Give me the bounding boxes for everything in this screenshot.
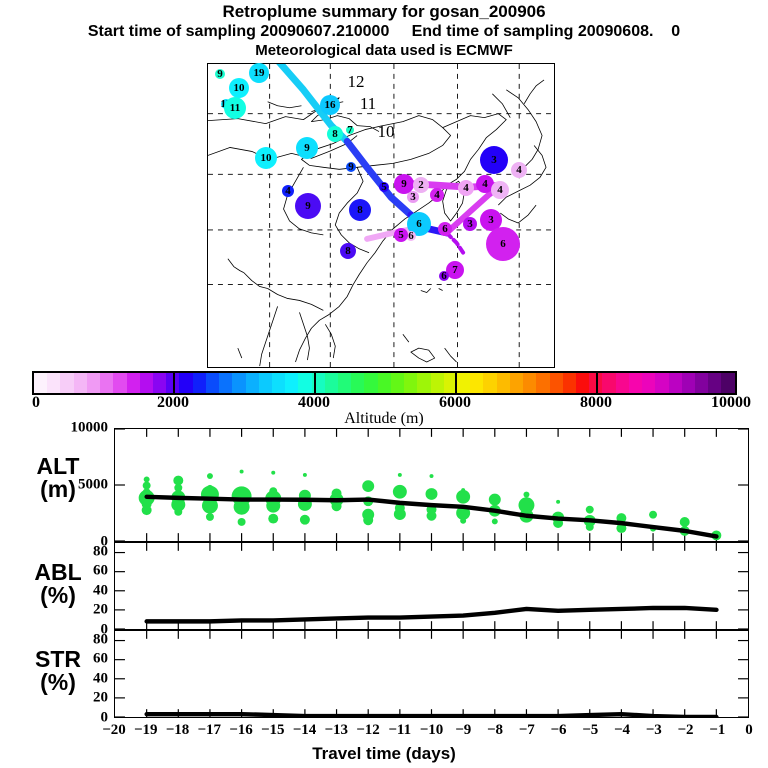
x-tick--6: −6 (550, 722, 566, 739)
alt-cluster-bubble (300, 515, 310, 525)
alt-cluster-bubble (430, 474, 434, 478)
colorbar-swatch-38 (536, 373, 549, 393)
marker-day-label: 6 (442, 224, 448, 235)
graticule (208, 64, 554, 367)
alt-panel[interactable] (114, 428, 749, 542)
colorbar-swatch-27 (391, 373, 404, 393)
colorbar-swatch-24 (351, 373, 364, 393)
alt-cluster-bubble (680, 517, 690, 527)
map-cluster-marker[interactable]: 4 (458, 180, 474, 196)
str-ytick-60: 60 (93, 651, 108, 668)
colorbar-swatch-26 (378, 373, 391, 393)
marker-day-label: 10 (234, 83, 245, 94)
colorbar-swatch-14 (219, 373, 232, 393)
map-cluster-marker[interactable]: 11 (224, 97, 246, 119)
colorbar-swatch-50 (695, 373, 708, 393)
colorbar-swatch-9 (153, 373, 166, 393)
colorbar-swatch-20 (298, 373, 311, 393)
colorbar-swatch-39 (550, 373, 563, 393)
marker-day-label: 9 (217, 69, 223, 80)
sampling-times: Start time of sampling 20090607.210000 E… (0, 24, 768, 41)
marker-day-label: 3 (410, 192, 416, 203)
map-cluster-marker[interactable]: 4 (282, 185, 294, 197)
map-cluster-marker[interactable]: 10 (255, 147, 277, 169)
map-cluster-marker[interactable]: 10 (229, 78, 249, 98)
x-tick--16: −16 (229, 722, 253, 739)
colorbar-swatch-28 (404, 373, 417, 393)
map-cluster-marker[interactable]: 9 (215, 69, 225, 79)
alt-cluster-bubble (363, 515, 373, 525)
colorbar-swatch-22 (325, 373, 338, 393)
marker-day-label: 8 (345, 246, 351, 257)
met-data-source: Meteorological data used is ECMWF (0, 43, 768, 59)
abl-ytick-80: 80 (93, 543, 108, 560)
x-tick--15: −15 (261, 722, 285, 739)
alt-cluster-bubble (426, 488, 438, 500)
colorbar-divider (455, 371, 457, 395)
marker-day-label: 4 (285, 186, 291, 197)
colorbar-swatch-13 (206, 373, 219, 393)
marker-day-label: 6 (416, 219, 422, 230)
map-cluster-marker[interactable]: 3 (407, 191, 419, 203)
colorbar-swatch-23 (338, 373, 351, 393)
retroplume-map[interactable]: 12 11 10 9101913111687910949859243444346… (207, 63, 555, 368)
map-cluster-marker[interactable]: 8 (349, 199, 371, 221)
colorbar-swatch-7 (127, 373, 140, 393)
alt-cluster-bubble (144, 476, 150, 482)
x-tick--11: −11 (388, 722, 411, 739)
alt-ytick-5000: 5000 (78, 477, 108, 494)
map-cluster-marker[interactable]: 5 (379, 182, 389, 192)
alt-ytick-10000: 10000 (71, 420, 109, 437)
alt-label-text: ALT (8, 455, 108, 478)
alt-cluster-bubble (398, 473, 402, 477)
colorbar-divider (596, 371, 598, 395)
abl-ytick-40: 40 (93, 582, 108, 599)
abl-ytick-20: 20 (93, 602, 108, 619)
colorbar-swatch-8 (140, 373, 153, 393)
track-label: 10 (378, 122, 395, 142)
colorbar-swatch-34 (483, 373, 496, 393)
marker-day-label: 4 (482, 179, 488, 190)
colorbar-swatch-40 (563, 373, 576, 393)
colorbar-swatch-43 (602, 373, 615, 393)
x-tick--20: −20 (102, 722, 126, 739)
alt-cluster-bubble (207, 473, 213, 479)
str-ytick-80: 80 (93, 631, 108, 648)
map-cluster-marker[interactable]: 6 (438, 222, 452, 236)
alt-cluster-bubble (238, 518, 246, 526)
map-cluster-marker[interactable]: 8 (340, 243, 356, 259)
alt-cluster-bubble (142, 505, 152, 515)
marker-day-label: 10 (261, 153, 272, 164)
x-tick-0: 0 (745, 722, 753, 739)
marker-day-label: 16 (325, 100, 336, 111)
map-cluster-marker[interactable]: 4 (491, 181, 509, 199)
marker-day-label: 5 (398, 230, 404, 241)
colorbar-swatch-46 (642, 373, 655, 393)
x-tick-labels: −20−19−18−17−16−15−14−13−12−11−10−9−8−7−… (0, 722, 768, 742)
alt-cluster-bubble (586, 523, 594, 531)
marker-day-label: 9 (401, 179, 407, 190)
colorbar-swatch-16 (246, 373, 259, 393)
alt-cluster-bubble (586, 506, 594, 514)
marker-day-label: 4 (463, 183, 469, 194)
map-cluster-marker[interactable]: 16 (320, 95, 340, 115)
track-label: 11 (360, 94, 376, 114)
x-tick--1: −1 (709, 722, 725, 739)
marker-day-label: 9 (305, 201, 311, 212)
colorbar-swatch-0 (34, 373, 47, 393)
marker-day-label: 3 (488, 215, 494, 226)
colorbar-swatch-52 (721, 373, 734, 393)
map-cluster-marker[interactable]: 9 (296, 137, 318, 159)
str-plot (115, 631, 748, 717)
colorbar-swatch-37 (523, 373, 536, 393)
marker-day-label: 6 (500, 239, 506, 250)
alt-plot (115, 429, 748, 541)
marker-day-label: 19 (254, 68, 265, 79)
colorbar-swatch-41 (576, 373, 589, 393)
marker-day-label: 7 (452, 265, 458, 276)
colorbar-swatch-51 (708, 373, 721, 393)
marker-day-label: 2 (418, 180, 424, 191)
alt-cluster-bubble (362, 480, 374, 492)
x-tick--4: −4 (614, 722, 630, 739)
alt-cluster-bubble (271, 471, 275, 475)
str-ytick-20: 20 (93, 690, 108, 707)
marker-day-label: 3 (467, 219, 473, 230)
colorbar-divider (314, 371, 316, 395)
x-tick--8: −8 (487, 722, 503, 739)
map-canvas (208, 64, 554, 367)
colorbar-swatch-47 (655, 373, 668, 393)
x-tick--3: −3 (646, 722, 662, 739)
colorbar-swatch-25 (364, 373, 377, 393)
colorbar-swatch-11 (179, 373, 192, 393)
marker-day-label: 9 (304, 143, 310, 154)
map-cluster-marker[interactable]: 19 (249, 63, 269, 83)
map-cluster-marker[interactable]: 3 (480, 146, 508, 174)
colorbar-swatch-35 (497, 373, 510, 393)
colorbar-swatch-30 (431, 373, 444, 393)
colorbar-swatch-15 (232, 373, 245, 393)
alt-cluster-bubble (492, 518, 498, 524)
map-cluster-marker[interactable]: 7 (346, 126, 354, 134)
map-cluster-marker[interactable]: 4 (430, 188, 444, 202)
map-cluster-marker[interactable]: 8 (327, 126, 343, 142)
x-tick--13: −13 (324, 722, 348, 739)
alt-cluster-bubble (393, 485, 407, 499)
map-cluster-marker[interactable]: 4 (511, 162, 527, 178)
str-ytick-40: 40 (93, 670, 108, 687)
marker-day-label: 9 (348, 162, 354, 173)
marker-day-label: 11 (230, 103, 240, 114)
colorbar-swatch-2 (60, 373, 73, 393)
colorbar-swatch-48 (669, 373, 682, 393)
alt-cluster-bubble (240, 470, 244, 474)
alt-cluster-bubble (332, 501, 342, 511)
alt-cluster-bubble (394, 508, 406, 520)
x-tick--5: −5 (582, 722, 598, 739)
alt-cluster-bubble (268, 514, 278, 524)
colorbar-axis-title: Altitude (m) (0, 410, 768, 428)
marker-day-label: 4 (434, 190, 440, 201)
colorbar-swatch-5 (100, 373, 113, 393)
marker-day-label: 6 (408, 231, 414, 242)
alt-cluster-bubble (143, 482, 151, 490)
marker-day-label: 4 (516, 165, 522, 176)
marker-day-label: 4 (497, 185, 503, 196)
colorbar-swatch-45 (629, 373, 642, 393)
x-tick--2: −2 (677, 722, 693, 739)
colorbar-gradient (32, 371, 737, 395)
x-axis-title: Travel time (days) (0, 744, 768, 764)
alt-cluster-bubble (489, 494, 501, 506)
alt-cluster-bubble (206, 513, 214, 521)
marker-day-label: 8 (357, 205, 363, 216)
page-title: Retroplume summary for gosan_200906 (0, 3, 768, 21)
alt-cluster-bubble (303, 473, 307, 477)
alt-cluster-bubble (460, 518, 466, 524)
colorbar-swatch-1 (47, 373, 60, 393)
colorbar-swatch-33 (470, 373, 483, 393)
map-cluster-marker[interactable]: 5 (394, 228, 408, 242)
colorbar-swatch-49 (682, 373, 695, 393)
marker-day-label: 6 (441, 271, 447, 282)
marker-day-label: 5 (381, 182, 387, 193)
alt-cluster-bubble (427, 511, 437, 521)
colorbar-swatch-44 (616, 373, 629, 393)
alt-cluster-bubble (174, 508, 182, 516)
marker-day-label: 8 (332, 129, 338, 140)
colorbar-swatch-6 (113, 373, 126, 393)
map-cluster-marker[interactable]: 6 (439, 271, 449, 281)
colorbar-swatch-3 (74, 373, 87, 393)
colorbar-divider (173, 371, 175, 395)
alt-cluster-bubble (456, 490, 470, 504)
x-tick--14: −14 (293, 722, 317, 739)
abl-ytick-60: 60 (93, 563, 108, 580)
map-cluster-marker[interactable]: 6 (486, 227, 520, 261)
title-block: Retroplume summary for gosan_200906 Star… (0, 0, 768, 58)
colorbar-swatch-12 (193, 373, 206, 393)
map-cluster-marker[interactable]: 3 (463, 217, 477, 231)
alt-cluster-bubble (556, 500, 560, 504)
colorbar-swatch-4 (87, 373, 100, 393)
marker-day-label: 3 (491, 155, 497, 166)
colorbar-swatch-17 (259, 373, 272, 393)
x-tick--17: −17 (197, 722, 221, 739)
abl-plot (115, 543, 748, 629)
x-tick--19: −19 (134, 722, 158, 739)
str-panel[interactable] (114, 630, 749, 718)
alt-cluster-bubble (649, 511, 657, 519)
x-tick--7: −7 (519, 722, 535, 739)
x-tick--9: −9 (455, 722, 471, 739)
alt-cluster-bubble (523, 492, 529, 498)
colorbar-swatch-29 (417, 373, 430, 393)
colorbar-swatch-32 (457, 373, 470, 393)
marker-day-label: 7 (347, 125, 353, 136)
map-cluster-marker[interactable]: 9 (346, 162, 356, 172)
map-cluster-marker[interactable]: 9 (295, 193, 321, 219)
x-tick--10: −10 (420, 722, 444, 739)
colorbar-swatch-19 (285, 373, 298, 393)
abl-panel[interactable] (114, 542, 749, 630)
track-label: 12 (348, 72, 365, 92)
colorbar-swatch-36 (510, 373, 523, 393)
colorbar-swatch-18 (272, 373, 285, 393)
x-tick--18: −18 (166, 722, 190, 739)
altitude-colorbar[interactable] (32, 371, 737, 395)
x-tick--12: −12 (356, 722, 380, 739)
